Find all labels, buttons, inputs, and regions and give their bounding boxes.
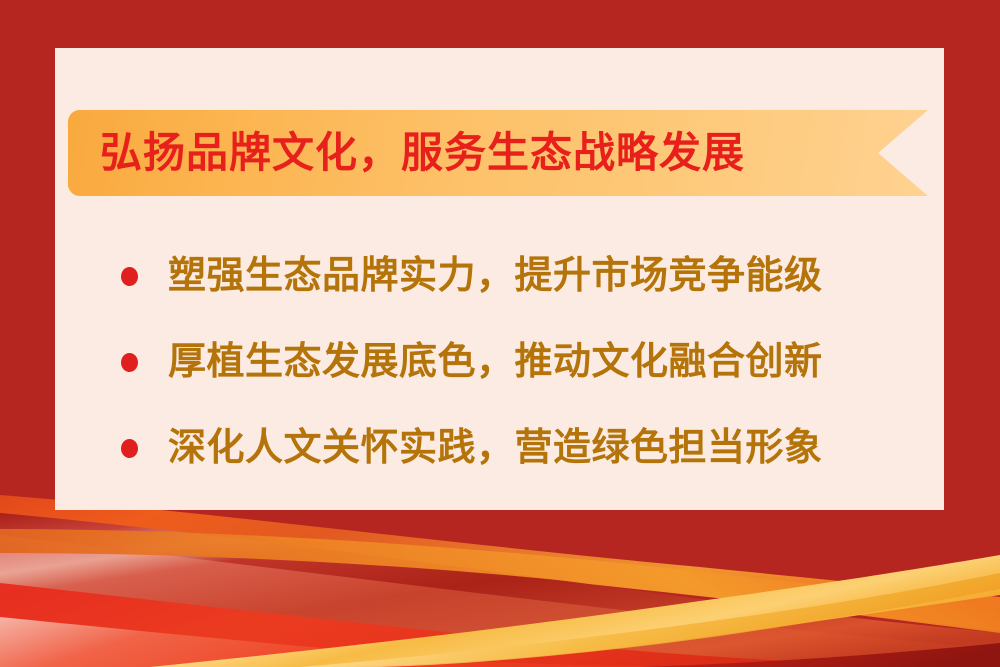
title-banner: 弘扬品牌文化，服务生态战略发展 [68,110,928,196]
bullet-dot-icon [121,439,138,458]
page-title: 弘扬品牌文化，服务生态战略发展 [100,132,745,174]
list-item: 塑强生态品牌实力，提升市场竞争能级 [121,233,921,319]
bullet-dot-icon [121,353,138,372]
bullet-list: 塑强生态品牌实力，提升市场竞争能级 厚植生态发展底色，推动文化融合创新 深化人文… [121,233,921,491]
list-item-label: 深化人文关怀实践，营造绿色担当形象 [168,429,823,467]
list-item: 深化人文关怀实践，营造绿色担当形象 [121,405,921,491]
list-item: 厚植生态发展底色，推动文化融合创新 [121,319,921,405]
list-item-label: 塑强生态品牌实力，提升市场竞争能级 [168,257,823,295]
bullet-dot-icon [121,267,138,286]
content-card: 弘扬品牌文化，服务生态战略发展 塑强生态品牌实力，提升市场竞争能级 厚植生态发展… [55,48,944,510]
poster-canvas: 弘扬品牌文化，服务生态战略发展 塑强生态品牌实力，提升市场竞争能级 厚植生态发展… [0,0,1000,667]
list-item-label: 厚植生态发展底色，推动文化融合创新 [168,343,823,381]
